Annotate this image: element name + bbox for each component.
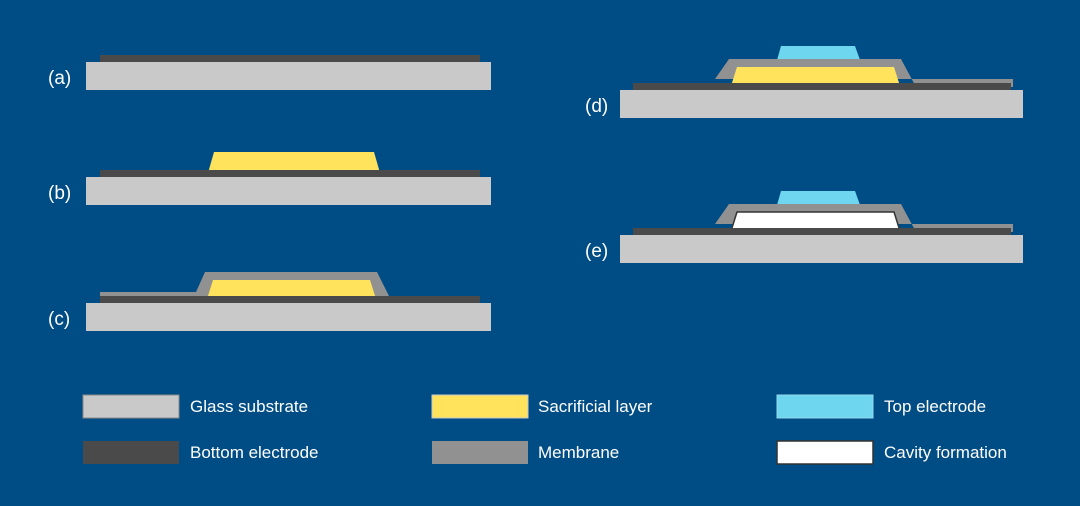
panel-c-label: (c) <box>48 309 70 330</box>
legend-label-bottom-electrode: Bottom electrode <box>190 443 319 462</box>
legend-swatch-cavity-formation <box>777 441 873 464</box>
figure-canvas: (a) (b) (c) (d) <box>0 0 1080 506</box>
panel-c-glass-substrate <box>86 303 491 331</box>
legend-swatch-bottom-electrode <box>83 441 179 464</box>
legend-label-cavity-formation: Cavity formation <box>884 443 1007 462</box>
legend-item-sacrificial-layer: Sacrificial layer <box>432 395 653 418</box>
panel-a-label: (a) <box>48 68 71 89</box>
legend-label-top-electrode: Top electrode <box>884 397 986 416</box>
panel-d-label: (d) <box>585 96 608 117</box>
panel-b-glass-substrate <box>86 177 491 205</box>
legend-item-glass-substrate: Glass substrate <box>83 395 308 418</box>
legend-label-membrane: Membrane <box>538 443 619 462</box>
legend-swatch-membrane <box>432 441 528 464</box>
legend-swatch-top-electrode <box>777 395 873 418</box>
legend-item-cavity-formation: Cavity formation <box>777 441 1007 464</box>
legend-label-glass-substrate: Glass substrate <box>190 397 308 416</box>
panel-a-glass-substrate <box>86 62 491 90</box>
legend-swatch-glass-substrate <box>83 395 179 418</box>
legend-item-bottom-electrode: Bottom electrode <box>83 441 319 464</box>
panel-d-glass-substrate <box>620 90 1023 118</box>
panel-d-top-electrode <box>777 46 860 60</box>
panel-e-label: (e) <box>585 241 608 262</box>
panel-e-top-electrode <box>777 191 860 205</box>
panel-e-glass-substrate <box>620 235 1023 263</box>
panel-b-label: (b) <box>48 183 71 204</box>
legend-item-membrane: Membrane <box>432 441 619 464</box>
legend-swatch-sacrificial-layer <box>432 395 528 418</box>
legend-label-sacrificial-layer: Sacrificial layer <box>538 397 653 416</box>
process-diagram: (a) (b) (c) (d) <box>0 0 1080 506</box>
panel-a: (a) <box>48 55 491 90</box>
panel-b-sacrificial-layer <box>208 152 380 173</box>
